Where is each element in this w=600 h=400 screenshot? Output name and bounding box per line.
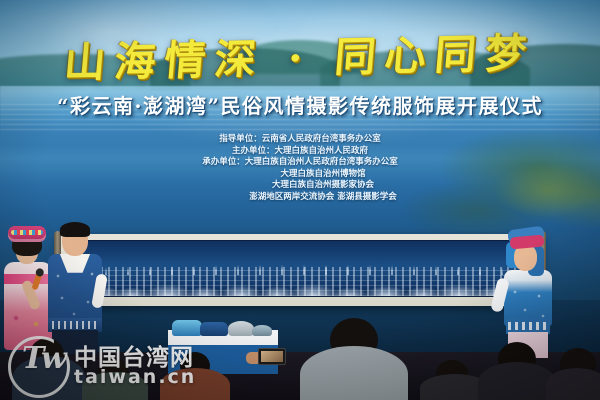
watermark-logo-text: Tw xyxy=(22,344,67,374)
tie-dye-cloth-item xyxy=(200,322,228,336)
organizer-line: 澎湖地区两岸交流协会 澎湖县摄影学会 xyxy=(0,192,600,204)
watermark: Tw 中国台湾网 taiwan.cn xyxy=(8,336,228,398)
organizer-line: 大理白族自治州博物馆 xyxy=(0,169,600,181)
organizer-line: 承办单位：大理白族自治州人民政府台湾事务办公室 xyxy=(0,157,600,169)
tie-dye-cloth-item xyxy=(172,320,202,336)
indigo-tie-dye-scroll xyxy=(58,234,542,306)
organizer-list: 指导单位：云南省人民政府台湾事务办公室 主办单位：大理白族自治州人民政府 承办单… xyxy=(0,134,600,204)
woman-in-blue-bai-costume xyxy=(498,222,560,354)
smartphone xyxy=(258,348,286,365)
craft-display-item xyxy=(252,325,272,336)
organizer-line: 大理白族自治州摄影家协会 xyxy=(0,180,600,192)
audience-member xyxy=(546,368,600,400)
organizer-line: 主办单位：大理白族自治州人民政府 xyxy=(0,146,600,158)
watermark-site-url: taiwan.cn xyxy=(74,366,196,388)
audience-member xyxy=(478,362,556,400)
banner-title: 山海情深 · 同心同梦 xyxy=(0,18,600,91)
host-man-hair xyxy=(60,222,90,237)
banner-subtitle: “彩云南·澎湖湾”民俗风情摄影传统服饰展开展仪式 xyxy=(0,90,600,119)
tie-dye-product-group xyxy=(172,318,276,336)
organizer-line: 指导单位：云南省人民政府台湾事务办公室 xyxy=(0,134,600,146)
host-in-blue-bai-vest xyxy=(40,218,110,352)
photo-screenshot: 山海情深 · 同心同梦 “彩云南·澎湖湾”民俗风情摄影传统服饰展开展仪式 指导单… xyxy=(0,0,600,400)
scroll-texture xyxy=(73,267,527,296)
craft-display-item xyxy=(228,321,254,336)
audience-member xyxy=(300,346,408,400)
scroll-artwork xyxy=(72,240,528,297)
